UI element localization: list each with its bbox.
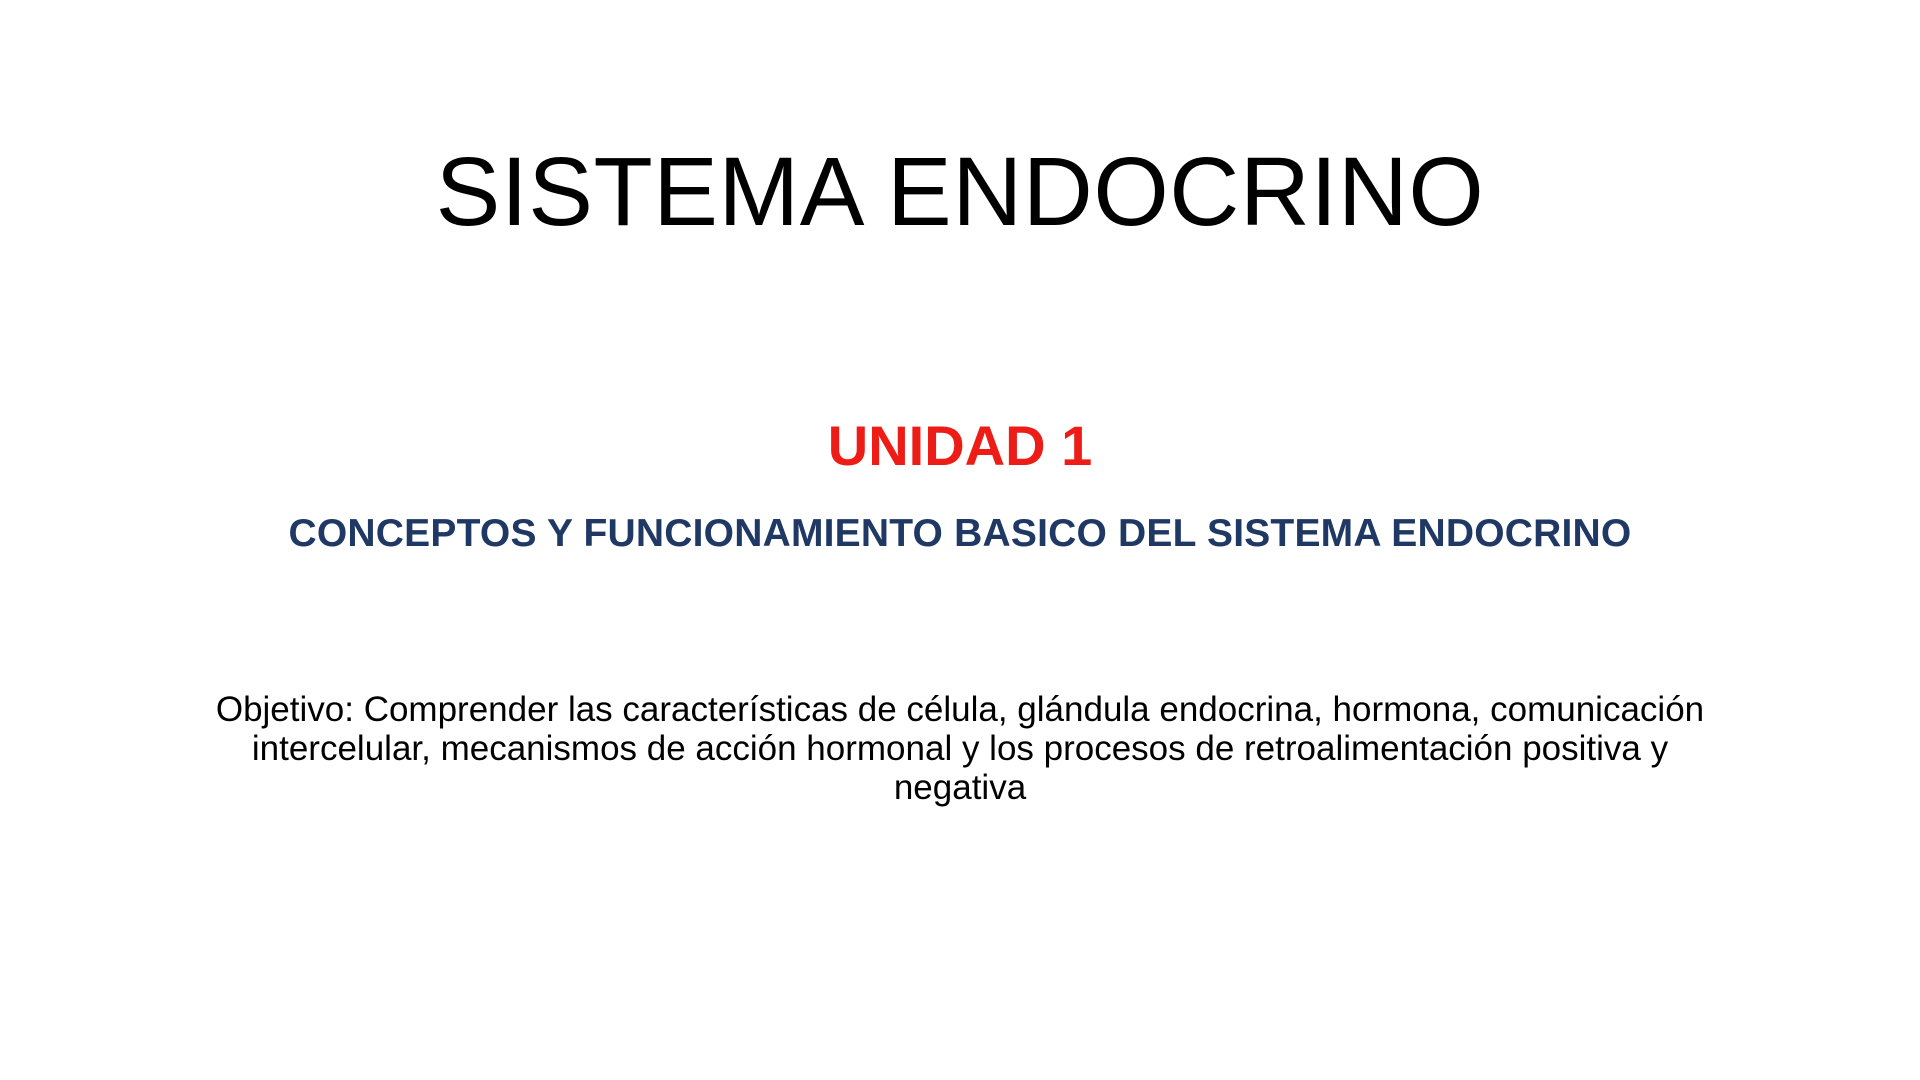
- unit-label: UNIDAD 1: [0, 415, 1920, 477]
- objective-paragraph: Objetivo: Comprender las características…: [195, 690, 1725, 808]
- subtitle-block: CONCEPTOS Y FUNCIONAMIENTO BASICO DEL SI…: [240, 512, 1680, 556]
- slide-subtitle: CONCEPTOS Y FUNCIONAMIENTO BASICO DEL SI…: [240, 512, 1680, 556]
- slide-title-block: SISTEMA ENDOCRINO: [0, 138, 1920, 247]
- page-title: SISTEMA ENDOCRINO: [0, 138, 1920, 247]
- objective-block: Objetivo: Comprender las características…: [195, 690, 1725, 808]
- presentation-slide: SISTEMA ENDOCRINO UNIDAD 1 CONCEPTOS Y F…: [0, 0, 1920, 1080]
- unit-label-block: UNIDAD 1: [0, 415, 1920, 477]
